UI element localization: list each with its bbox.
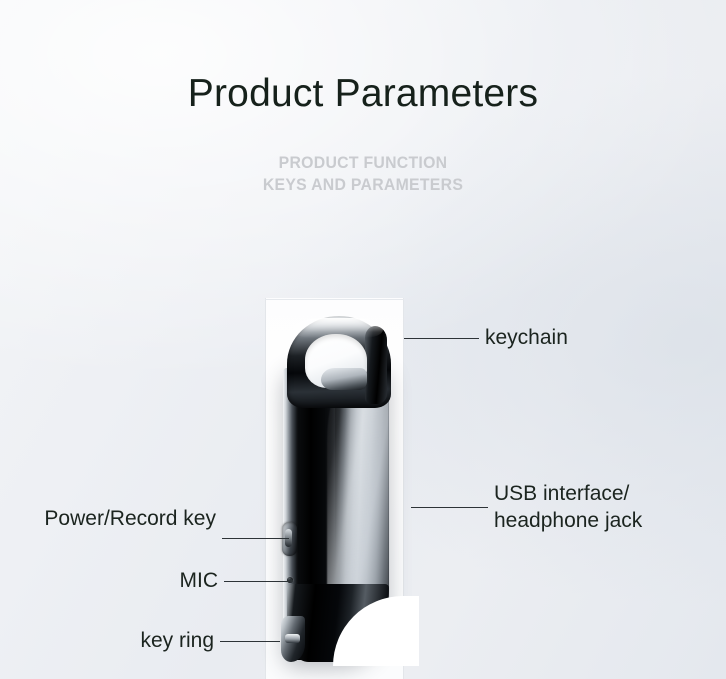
callout-power-record-key: Power/Record key [0, 505, 216, 532]
callout-usb-headphone-line-1: USB interface/ [494, 480, 642, 507]
subtitle-line-2: KEYS AND PARAMETERS [25, 174, 700, 196]
subtitle-line-1: PRODUCT FUNCTION [25, 152, 700, 174]
product-device-image [281, 316, 407, 662]
page-subtitle: PRODUCT FUNCTION KEYS AND PARAMETERS [25, 152, 700, 196]
callout-key-ring: key ring [0, 627, 214, 654]
leader-line-key-ring [220, 641, 280, 642]
callout-keychain: keychain [485, 324, 568, 351]
leader-line-mic [224, 581, 291, 582]
page-title: Product Parameters [0, 72, 726, 116]
callout-usb-headphone: USB interface/ headphone jack [494, 480, 642, 534]
guide-line-top [265, 299, 404, 300]
callout-keychain-line-1: keychain [485, 324, 568, 351]
key-ring-slot [285, 634, 300, 643]
product-parameters-slide: Product Parameters PRODUCT FUNCTION KEYS… [0, 0, 726, 679]
callout-power-record-key-line-1: Power/Record key [0, 505, 216, 532]
leader-dot-mic [289, 579, 293, 583]
callout-key-ring-line-1: key ring [0, 627, 214, 654]
callout-mic-line-1: MIC [0, 567, 218, 594]
leader-line-power-record-key [222, 538, 289, 539]
callout-mic: MIC [0, 567, 218, 594]
keychain-hook-latch [321, 368, 367, 390]
callout-usb-headphone-line-2: headphone jack [494, 507, 642, 534]
leader-line-keychain [404, 338, 479, 339]
leader-line-usb-headphone [411, 507, 488, 508]
guide-line-left [265, 298, 266, 679]
